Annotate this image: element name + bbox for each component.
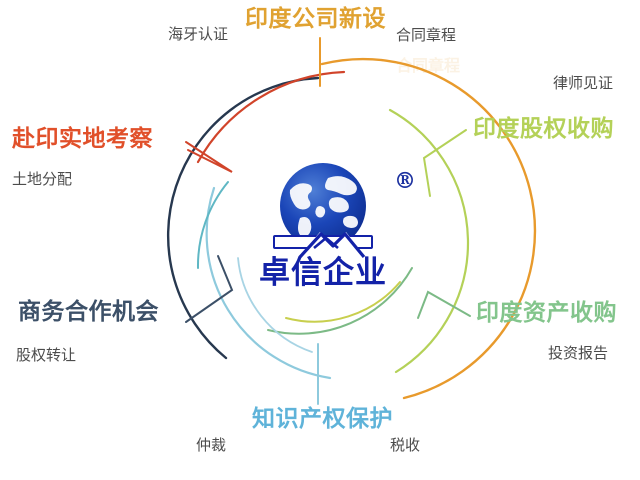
company-logo: ® 卓信企业 bbox=[238, 160, 408, 305]
sub-label-arbitration: 仲裁 bbox=[196, 438, 226, 453]
arc-red bbox=[198, 72, 344, 162]
connector-survey bbox=[186, 142, 232, 172]
connector-biz bbox=[186, 256, 232, 322]
sub-label-tax: 税收 bbox=[390, 438, 420, 453]
sub-label-land: 土地分配 bbox=[12, 172, 72, 187]
node-label-survey[interactable]: 赴印实地考察 bbox=[12, 128, 153, 151]
node-label-asset[interactable]: 印度资产收购 bbox=[476, 302, 617, 325]
brand-name: 卓信企业 bbox=[238, 258, 408, 289]
infographic-canvas: ® 卓信企业 印度公司新设 印度股权收购 印度资产收购 知识产权保护 商务合作机… bbox=[0, 0, 640, 480]
sub-label-lawyer: 律师见证 bbox=[553, 76, 613, 91]
registered-trademark-icon: ® bbox=[394, 168, 416, 194]
sub-label-contract: 合同章程 bbox=[396, 28, 456, 43]
sub-label-share: 股权转让 bbox=[16, 348, 76, 363]
node-label-newco[interactable]: 印度公司新设 bbox=[245, 8, 386, 31]
node-label-biz[interactable]: 商务合作机会 bbox=[18, 301, 159, 324]
node-label-equity[interactable]: 印度股权收购 bbox=[473, 118, 614, 141]
globe-handshake-icon bbox=[270, 160, 376, 266]
sub-label-hague: 海牙认证 bbox=[168, 27, 228, 42]
sub-label-report: 投资报告 bbox=[548, 346, 608, 361]
watermark-contract: 合同章程 bbox=[396, 58, 460, 74]
connector-asset bbox=[418, 292, 470, 318]
node-label-ip[interactable]: 知识产权保护 bbox=[252, 408, 393, 431]
